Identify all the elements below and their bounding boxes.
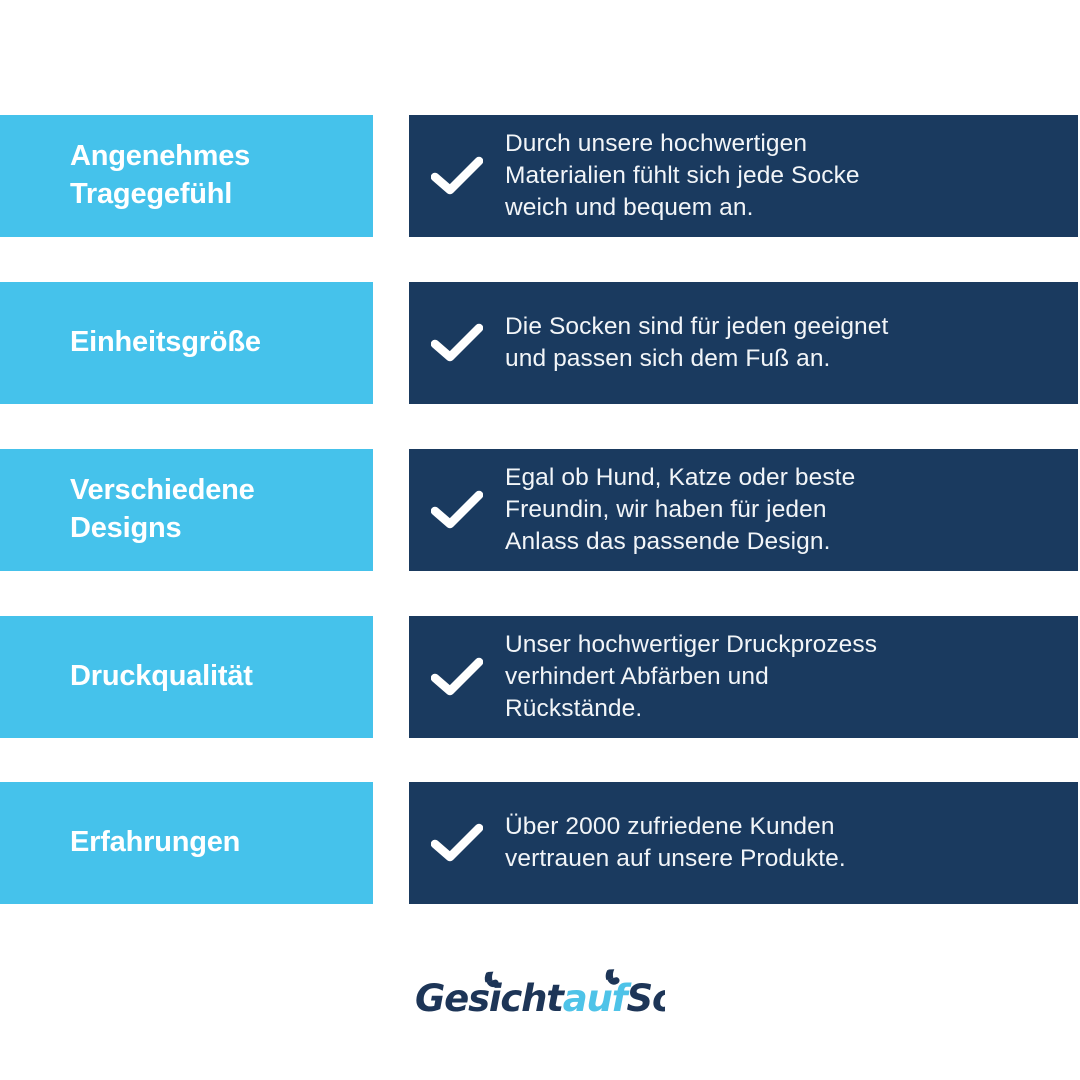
check-icon — [409, 823, 505, 863]
logo-part-3: Socken — [627, 977, 665, 1020]
feature-label-panel: Einheitsgröße — [0, 282, 373, 404]
feature-row: Erfahrungen Über 2000 zufriedene Kunden … — [0, 782, 1080, 904]
feature-row: Druckqualität Unser hochwertiger Druckpr… — [0, 616, 1080, 738]
feature-row: Verschiedene Designs Egal ob Hund, Katze… — [0, 449, 1080, 571]
feature-label-panel: Angenehmes Tragegefühl — [0, 115, 373, 237]
feature-list-graphic: Angenehmes Tragegefühl Durch unsere hoch… — [0, 0, 1080, 1080]
feature-label: Angenehmes Tragegefühl — [70, 138, 250, 213]
feature-label: Erfahrungen — [70, 824, 240, 862]
check-icon — [409, 490, 505, 530]
feature-description: Unser hochwertiger Druckprozess verhinde… — [505, 629, 1078, 725]
feature-label-panel: Druckqualität — [0, 616, 373, 738]
svg-text:GesichtaufSocken: GesichtaufSocken — [415, 977, 665, 1020]
brand-logo: GesichtaufSocken — [0, 962, 1080, 1026]
feature-description: Egal ob Hund, Katze oder beste Freundin,… — [505, 462, 1078, 558]
feature-description-panel: Die Socken sind für jeden geeignet und p… — [409, 282, 1078, 404]
feature-row: Einheitsgröße Die Socken sind für jeden … — [0, 282, 1080, 404]
check-icon — [409, 323, 505, 363]
feature-description: Durch unsere hochwertigen Materialien fü… — [505, 128, 1078, 224]
feature-description-panel: Über 2000 zufriedene Kunden vertrauen au… — [409, 782, 1078, 904]
logo-part-2: auf — [563, 977, 632, 1020]
feature-label-panel: Erfahrungen — [0, 782, 373, 904]
feature-label-panel: Verschiedene Designs — [0, 449, 373, 571]
feature-description: Über 2000 zufriedene Kunden vertrauen au… — [505, 811, 1078, 875]
feature-description-panel: Durch unsere hochwertigen Materialien fü… — [409, 115, 1078, 237]
feature-description-panel: Egal ob Hund, Katze oder beste Freundin,… — [409, 449, 1078, 571]
feature-label: Druckqualität — [70, 658, 253, 696]
feature-description-panel: Unser hochwertiger Druckprozess verhinde… — [409, 616, 1078, 738]
check-icon — [409, 657, 505, 697]
logo-part-1: Gesicht — [415, 977, 565, 1020]
feature-label: Verschiedene Designs — [70, 472, 255, 547]
feature-label: Einheitsgröße — [70, 324, 261, 362]
feature-row: Angenehmes Tragegefühl Durch unsere hoch… — [0, 115, 1080, 237]
check-icon — [409, 156, 505, 196]
feature-description: Die Socken sind für jeden geeignet und p… — [505, 311, 1078, 375]
